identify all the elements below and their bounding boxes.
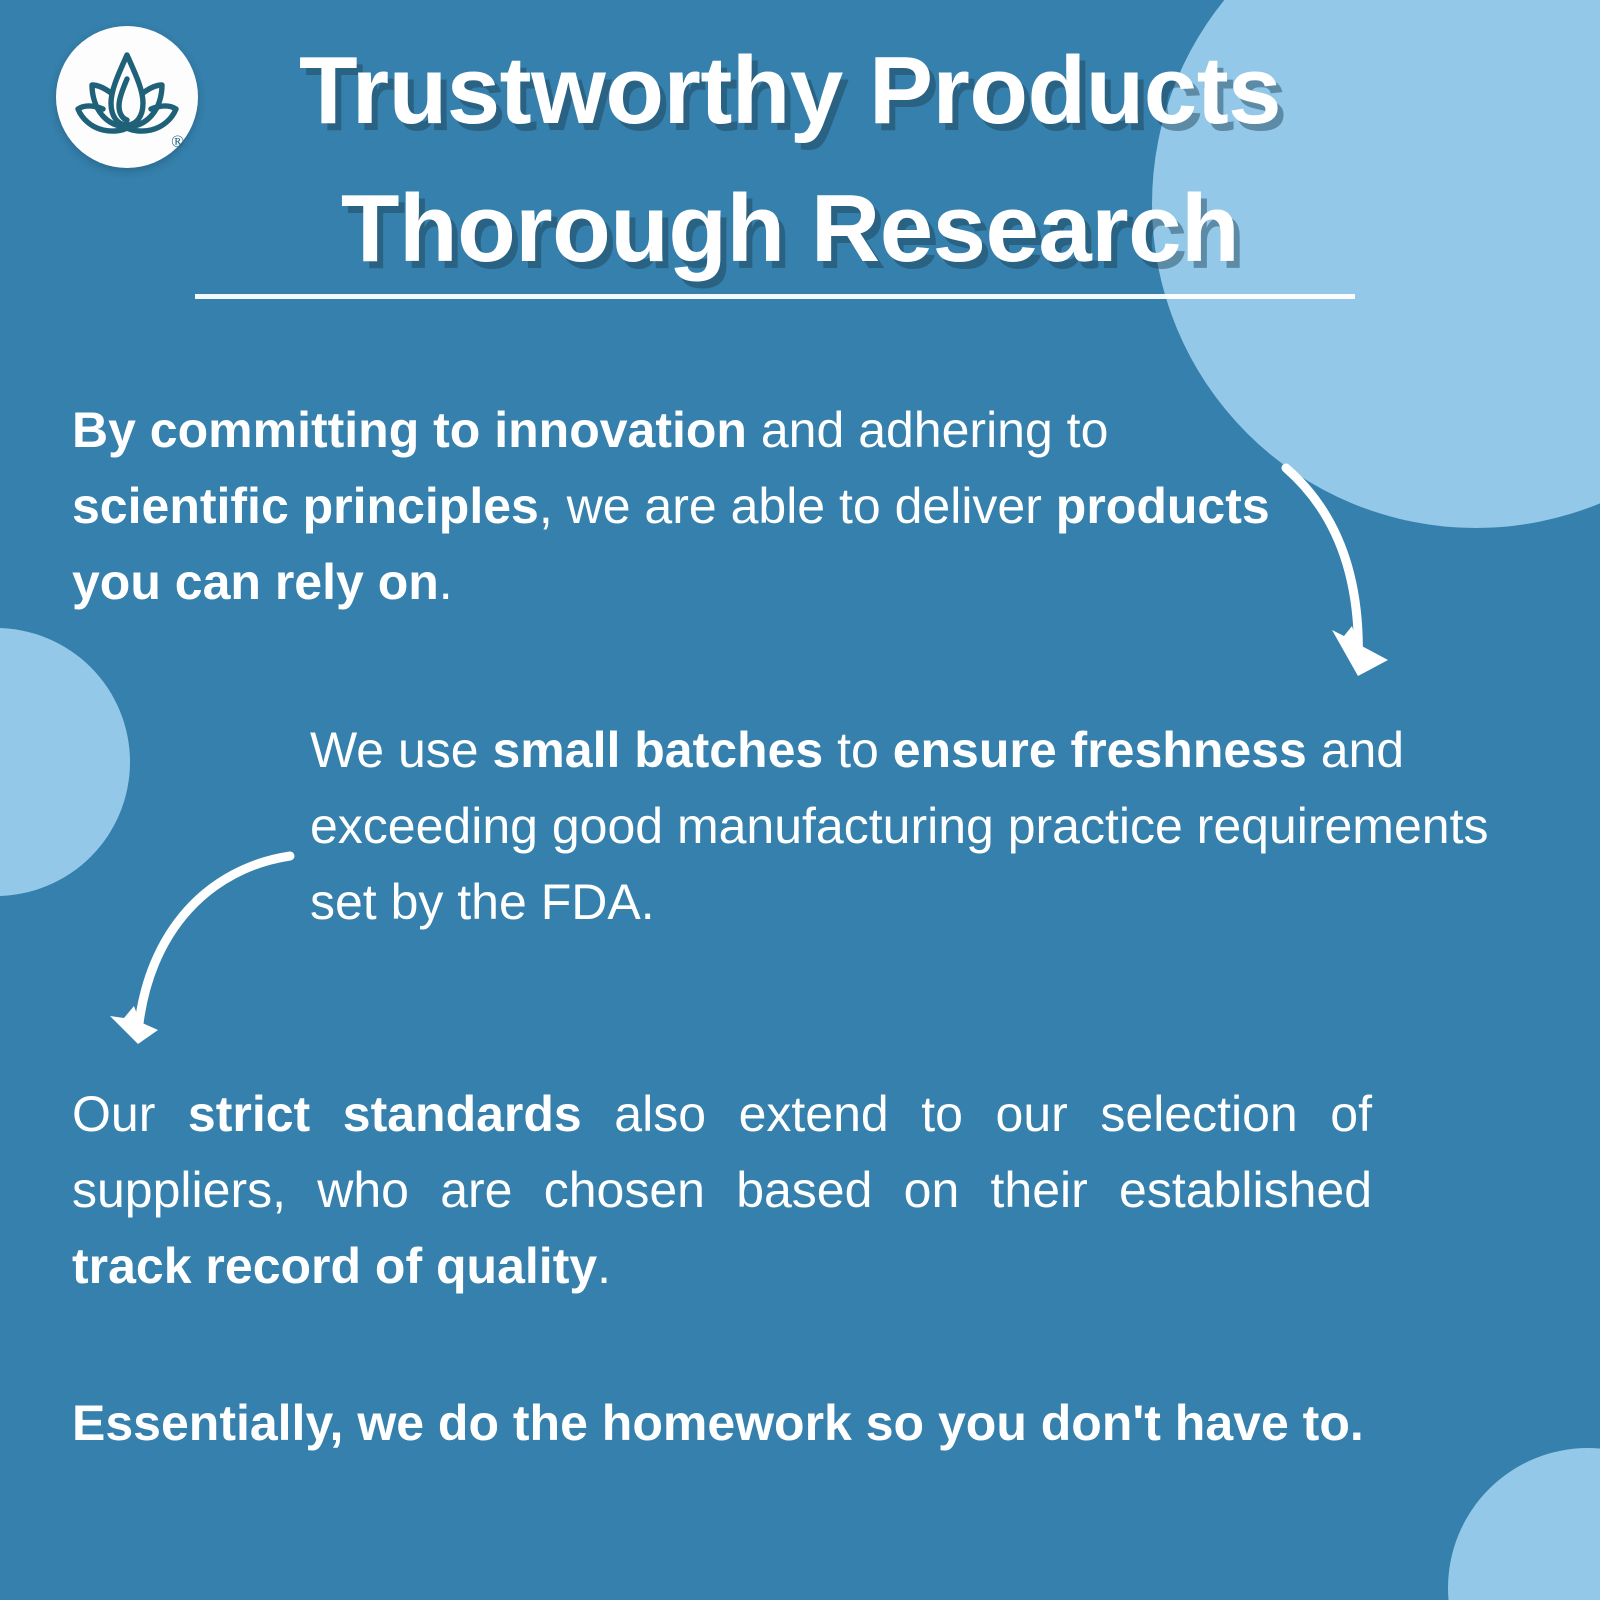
body-text: and adhering to <box>747 402 1108 458</box>
page-title-line-1: Trustworthy Products <box>200 22 1380 160</box>
body-text: to <box>823 722 892 778</box>
lotus-flower-icon <box>73 47 181 147</box>
emphasis-text: track record of quality <box>72 1238 597 1294</box>
promotional-graphic: ® Trustworthy Products Thorough Research… <box>0 0 1600 1600</box>
body-text: We use <box>310 722 493 778</box>
decorative-circle-bottom-right <box>1448 1448 1600 1600</box>
brand-logo: ® <box>56 26 198 168</box>
paragraph-innovation: By committing to innovation and adhering… <box>72 392 1302 620</box>
paragraph-closing-statement: Essentially, we do the homework so you d… <box>72 1385 1532 1461</box>
emphasis-text: strict standards <box>188 1086 582 1142</box>
title-underline-rule <box>195 294 1355 299</box>
emphasis-text: Essentially, we do the homework so you d… <box>72 1395 1364 1451</box>
body-text: . <box>439 554 453 610</box>
header-block: Trustworthy Products Thorough Research <box>200 22 1380 298</box>
emphasis-text: By committing to innovation <box>72 402 747 458</box>
paragraph-strict-standards: Our strict standards also extend to our … <box>72 1076 1372 1304</box>
emphasis-text: ensure freshness <box>893 722 1307 778</box>
registered-trademark-symbol: ® <box>171 132 184 152</box>
body-text: Our <box>72 1086 188 1142</box>
page-title-line-2: Thorough Research <box>200 160 1380 298</box>
emphasis-text: small batches <box>493 722 824 778</box>
decorative-circle-left <box>0 628 130 896</box>
paragraph-small-batches: We use small batches to ensure freshness… <box>310 712 1540 940</box>
emphasis-text: scientific principles <box>72 478 539 534</box>
curved-arrow-down-icon <box>90 820 310 1080</box>
body-text: . <box>597 1238 611 1294</box>
body-text: , we are able to deliver <box>539 478 1056 534</box>
